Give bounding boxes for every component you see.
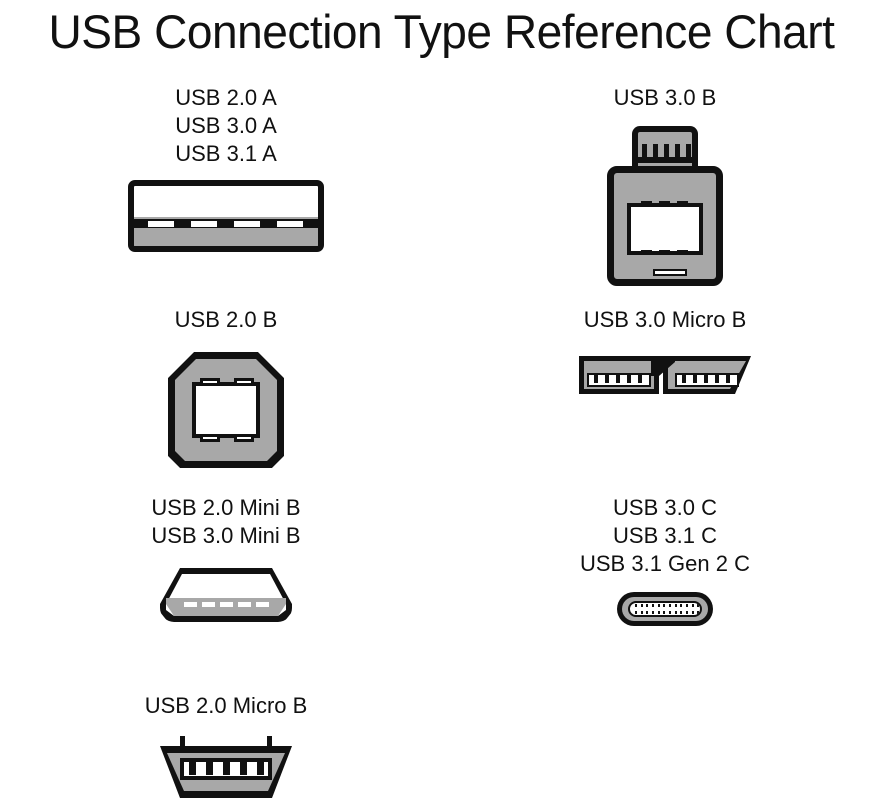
connector-label-usb-2-0-b: USB 2.0 B <box>106 306 346 334</box>
connector-label-usb-2-0-micro-b: USB 2.0 Micro B <box>106 692 346 720</box>
connector-label-usb-type-c: USB 3.0 C USB 3.1 C USB 3.1 Gen 2 C <box>545 494 785 578</box>
connector-usb-type-c: USB 3.0 C USB 3.1 C USB 3.1 Gen 2 C <box>545 494 785 626</box>
connector-usb-2-0-b: USB 2.0 B <box>106 306 346 468</box>
usb-mini-b-icon <box>160 568 292 622</box>
usb-3-0-b-icon <box>607 126 723 286</box>
label-line: USB 3.0 Micro B <box>545 306 785 334</box>
label-line: USB 3.1 Gen 2 C <box>545 550 785 578</box>
usb-2-0-b-icon <box>168 352 284 468</box>
connector-usb-3-0-b: USB 3.0 B <box>545 84 785 286</box>
connector-label-usb-mini-b: USB 2.0 Mini B USB 3.0 Mini B <box>106 494 346 550</box>
label-line: USB 2.0 Micro B <box>106 692 346 720</box>
label-line: USB 3.0 B <box>545 84 785 112</box>
usb-type-a-icon <box>128 180 324 252</box>
label-line: USB 2.0 Mini B <box>106 494 346 522</box>
label-line: USB 3.0 A <box>106 112 346 140</box>
label-line: USB 3.1 A <box>106 140 346 168</box>
usb-3-0-micro-b-icon <box>579 356 751 394</box>
page-title: USB Connection Type Reference Chart <box>9 4 874 60</box>
label-line: USB 2.0 B <box>106 306 346 334</box>
connector-usb-mini-b: USB 2.0 Mini B USB 3.0 Mini B <box>106 494 346 622</box>
usb-type-c-icon <box>617 592 713 626</box>
label-line: USB 3.1 C <box>545 522 785 550</box>
label-line: USB 2.0 A <box>106 84 346 112</box>
connector-label-usb-3-0-micro-b: USB 3.0 Micro B <box>545 306 785 334</box>
connector-usb-type-a: USB 2.0 A USB 3.0 A USB 3.1 A <box>106 84 346 252</box>
connector-usb-2-0-micro-b: USB 2.0 Micro B <box>106 692 346 798</box>
connector-usb-3-0-micro-b: USB 3.0 Micro B <box>545 306 785 394</box>
usb-2-0-micro-b-icon <box>160 736 292 798</box>
usb-reference-chart: USB Connection Type Reference Chart USB … <box>0 0 883 800</box>
connector-label-usb-type-a: USB 2.0 A USB 3.0 A USB 3.1 A <box>106 84 346 168</box>
label-line: USB 3.0 C <box>545 494 785 522</box>
connector-label-usb-3-0-b: USB 3.0 B <box>545 84 785 112</box>
label-line: USB 3.0 Mini B <box>106 522 346 550</box>
